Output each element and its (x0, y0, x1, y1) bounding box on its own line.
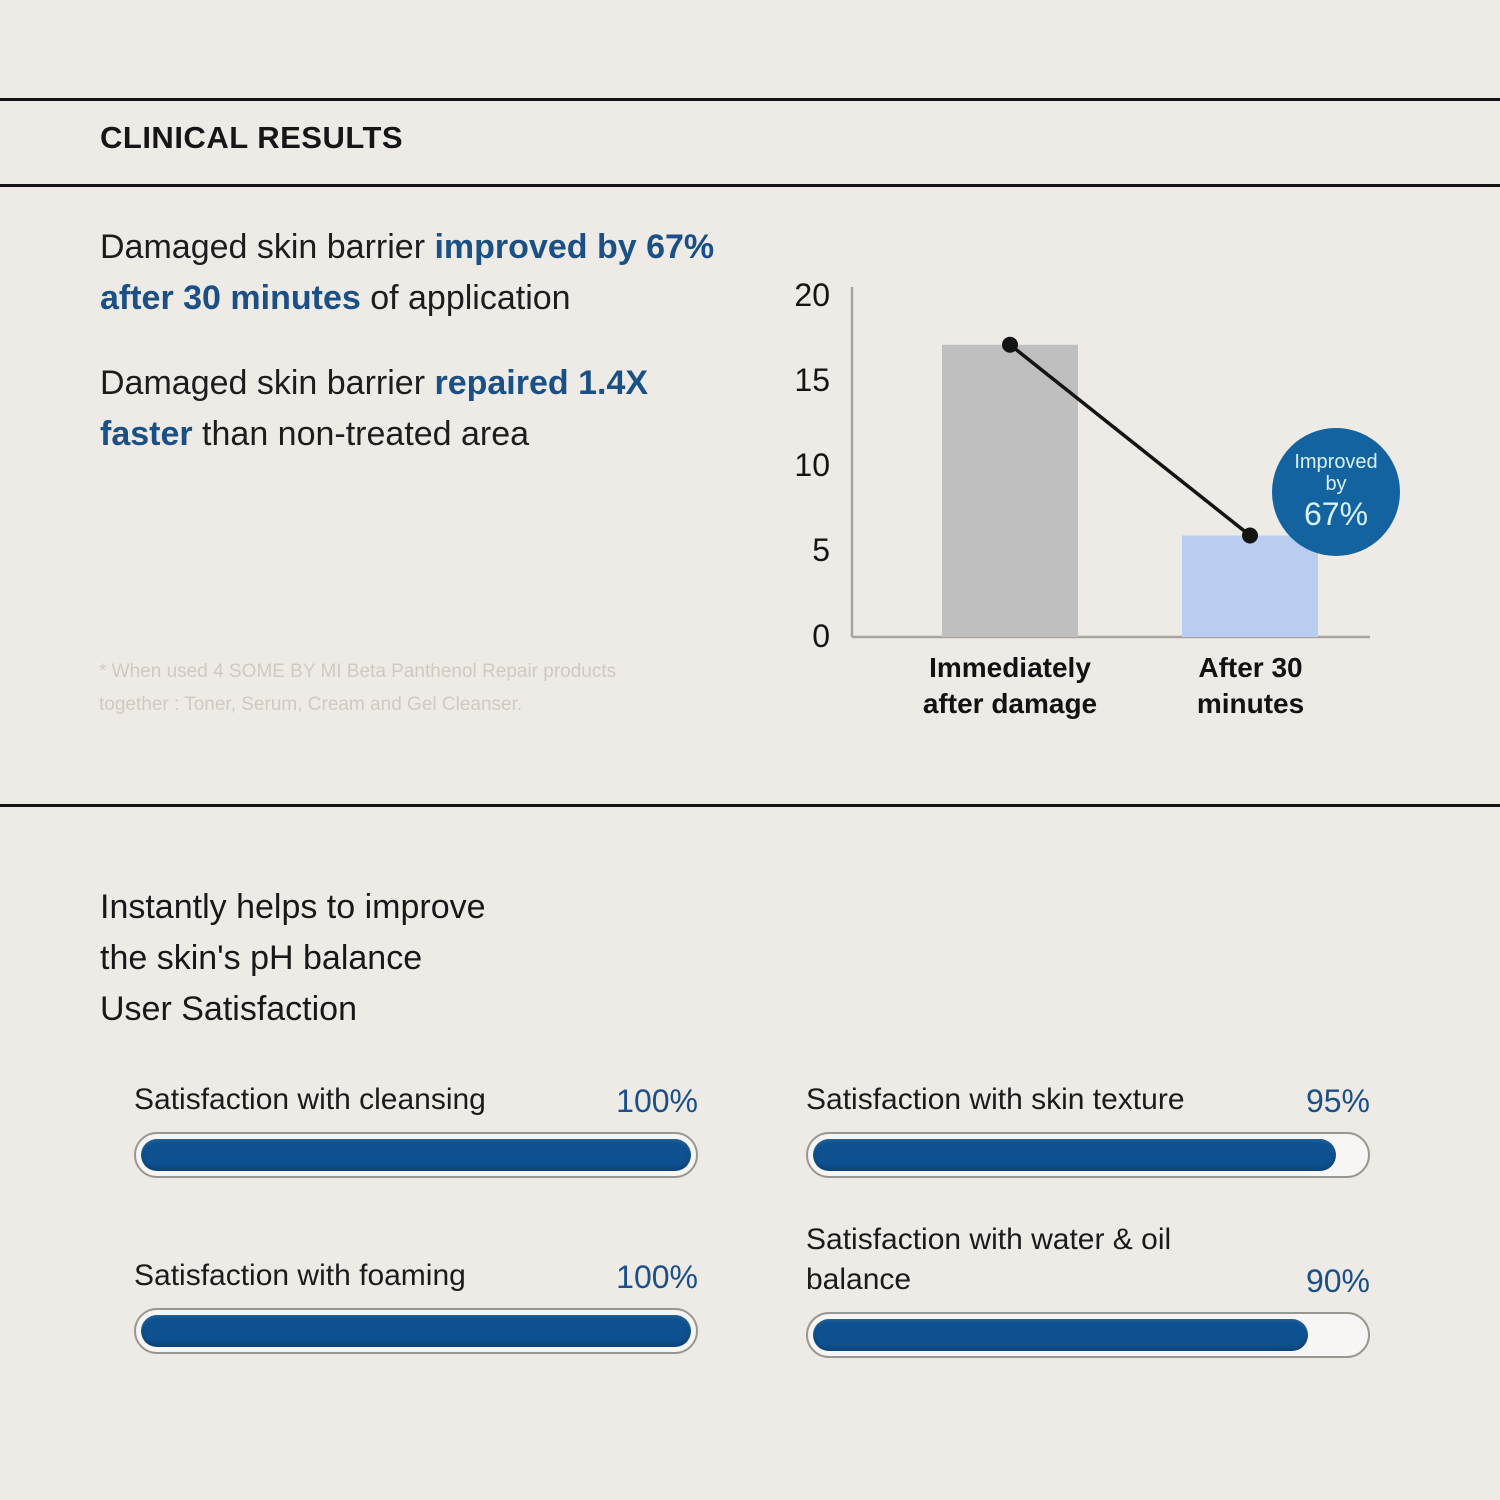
satisfaction-label: Satisfaction with cleansing (134, 1080, 486, 1120)
satisfaction-label: Satisfaction with skin texture (806, 1080, 1185, 1120)
y-tick-label: 0 (770, 618, 830, 655)
badge-line-1: Improved (1294, 452, 1377, 474)
satisfaction-row: Satisfaction with foaming 100% (134, 1256, 698, 1296)
y-tick-label: 5 (770, 532, 830, 569)
y-tick-label: 20 (770, 277, 830, 314)
trend-point-end (1242, 528, 1258, 544)
divider-under-header (0, 184, 1500, 187)
page-title: CLINICAL RESULTS (100, 120, 403, 156)
lower-heading-line: the skin's pH balance (100, 933, 486, 984)
y-tick-label: 15 (770, 362, 830, 399)
satisfaction-row: Satisfaction with cleansing 100% (134, 1080, 698, 1120)
satisfaction-row: Satisfaction with skin texture 95% (806, 1080, 1370, 1120)
bar-after-30-minutes (1182, 536, 1318, 638)
progress-fill (813, 1319, 1308, 1351)
progress-track (806, 1312, 1370, 1358)
satisfaction-item-foaming: Satisfaction with foaming 100% (134, 1256, 698, 1354)
badge-line-3: 67% (1304, 497, 1368, 532)
claim-text-plain-end: than non-treated area (193, 415, 529, 453)
claim-text-plain: Damaged skin barrier (100, 228, 434, 266)
satisfaction-percent: 100% (602, 1083, 698, 1120)
clinical-results-page: CLINICAL RESULTS Damaged skin barrier im… (0, 0, 1500, 1500)
satisfaction-percent: 100% (602, 1259, 698, 1296)
satisfaction-percent: 95% (1292, 1083, 1370, 1120)
satisfaction-item-water-oil-balance: Satisfaction with water & oil balance 90… (806, 1220, 1370, 1358)
divider-top (0, 98, 1500, 101)
x-axis-label-text: Immediately after damage (923, 652, 1097, 719)
satisfaction-item-skin-texture: Satisfaction with skin texture 95% (806, 1080, 1370, 1178)
claim-text-plain-end: of application (361, 279, 571, 317)
satisfaction-row: Satisfaction with water & oil balance 90… (806, 1220, 1370, 1300)
divider-middle (0, 804, 1500, 807)
satisfaction-label: Satisfaction with water & oil balance (806, 1220, 1206, 1300)
satisfaction-percent: 90% (1292, 1263, 1370, 1300)
satisfaction-item-cleansing: Satisfaction with cleansing 100% (134, 1080, 698, 1178)
y-tick-label: 10 (770, 447, 830, 484)
bar-immediately-after-damage (942, 345, 1078, 637)
claim-item: Damaged skin barrier repaired 1.4X faste… (100, 358, 750, 460)
trend-point-start (1002, 337, 1018, 353)
satisfaction-label: Satisfaction with foaming (134, 1256, 466, 1296)
progress-track (806, 1132, 1370, 1178)
improved-badge: Improved by 67% (1272, 428, 1400, 556)
progress-track (134, 1132, 698, 1178)
lower-section-heading: Instantly helps to improve the skin's pH… (100, 882, 486, 1035)
lower-heading-line: User Satisfaction (100, 984, 486, 1035)
claims-block: Damaged skin barrier improved by 67% aft… (100, 222, 750, 460)
badge-line-2: by (1325, 474, 1346, 496)
x-axis-label-after30: After 30 minutes (1168, 650, 1333, 722)
progress-fill (141, 1139, 691, 1171)
progress-fill (813, 1139, 1336, 1171)
x-axis-label-text: After 30 minutes (1197, 652, 1304, 719)
lower-heading-line: Instantly helps to improve (100, 882, 486, 933)
x-axis-label-immediately: Immediately after damage (920, 650, 1100, 722)
progress-track (134, 1308, 698, 1354)
claim-text-plain: Damaged skin barrier (100, 364, 434, 402)
footnote-text: * When used 4 SOME BY MI Beta Panthenol … (99, 655, 659, 721)
claim-item: Damaged skin barrier improved by 67% aft… (100, 222, 750, 324)
progress-fill (141, 1315, 691, 1347)
